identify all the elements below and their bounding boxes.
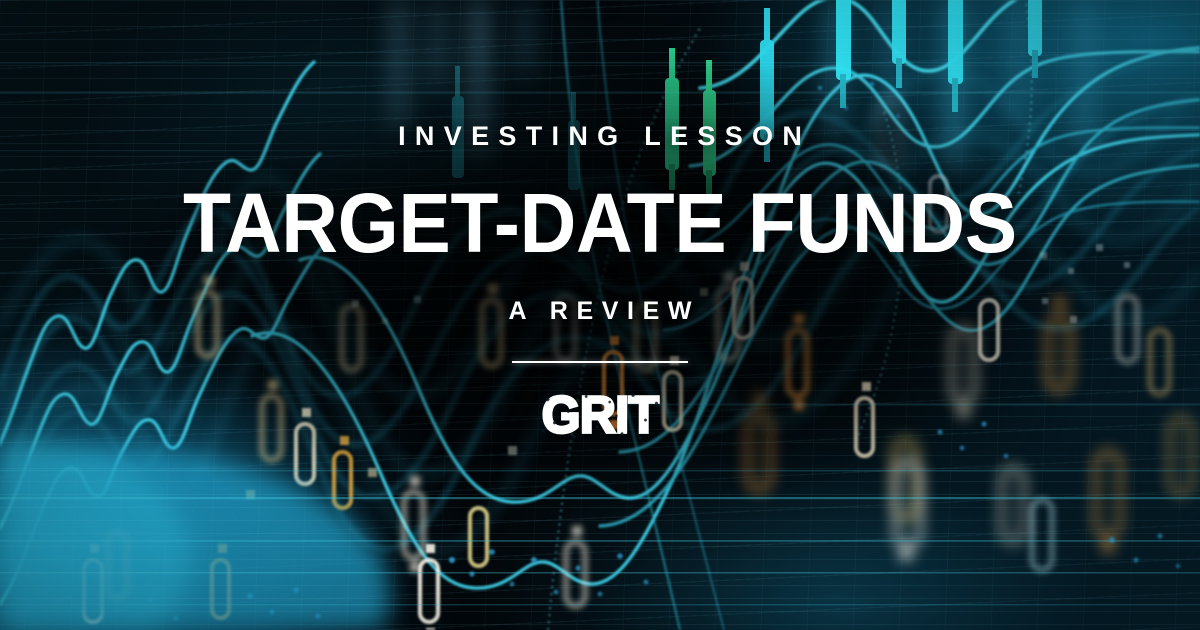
grit-logo: GRIT: [542, 389, 659, 441]
hero-subhead: A REVIEW: [500, 299, 700, 324]
hero-divider: [512, 361, 688, 363]
hero-kicker: INVESTING LESSON: [389, 123, 811, 150]
hero-headline: TARGET-DATE FUNDS: [183, 181, 1017, 265]
hero-banner: INVESTING LESSON TARGET-DATE FUNDS A REV…: [0, 0, 1200, 630]
hero-content: INVESTING LESSON TARGET-DATE FUNDS A REV…: [0, 0, 1200, 630]
